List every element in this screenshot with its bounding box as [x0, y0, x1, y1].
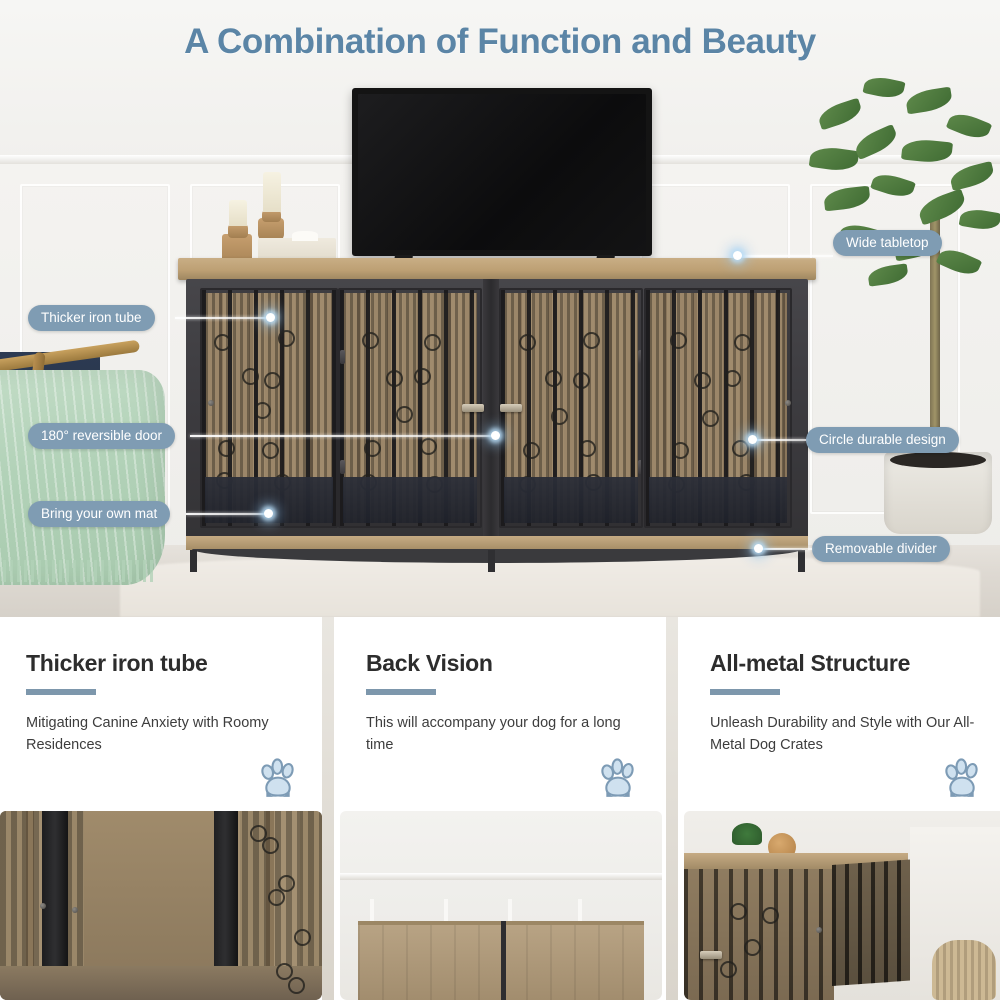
crate-door-4[interactable] [644, 288, 792, 528]
card-photo-angled-view [684, 811, 1000, 1000]
callout-bring-your-own-mat[interactable]: Bring your own mat [28, 501, 170, 527]
heading-underline [26, 689, 96, 695]
pot-soil [890, 452, 986, 468]
card-heading: Back Vision [366, 650, 644, 677]
cabinet-leg [190, 550, 197, 572]
card-photo-crate-interior [0, 811, 322, 1000]
hotspot-dot[interactable] [754, 544, 763, 553]
hotspot-dot[interactable] [266, 313, 275, 322]
paw-print-icon [596, 757, 640, 801]
feature-card-back-vision[interactable]: Back Vision This will accompany your dog… [340, 617, 662, 1000]
callout-wide-tabletop[interactable]: Wide tabletop [833, 230, 942, 256]
leader-line [737, 255, 833, 257]
card-photo-back-panel [340, 811, 662, 1000]
crate-door-2[interactable] [338, 288, 482, 528]
throw-fringe [0, 560, 155, 582]
crate-mat [504, 477, 638, 523]
cabinet-leg [798, 550, 805, 572]
crate-mat [649, 477, 787, 523]
heading-underline [366, 689, 436, 695]
cabinet-leg [488, 550, 495, 572]
television [352, 88, 652, 256]
hotspot-dot[interactable] [264, 509, 273, 518]
feature-card-thicker-iron-tube[interactable]: Thicker iron tube Mitigating Canine Anxi… [0, 617, 322, 1000]
callout-circle-durable-design[interactable]: Circle durable design [806, 427, 959, 453]
feature-cards-strip: Thicker iron tube Mitigating Canine Anxi… [0, 617, 1000, 1000]
card-body: Mitigating Canine Anxiety with Roomy Res… [26, 712, 304, 757]
callout-reversible-door[interactable]: 180° reversible door [28, 423, 175, 449]
leader-line [190, 435, 495, 437]
paw-print-icon [940, 757, 984, 801]
feature-card-all-metal-structure[interactable]: All-metal Structure Unleash Durability a… [684, 617, 1000, 1000]
pillar-candle-tall [263, 172, 281, 212]
door-latch-right[interactable] [500, 404, 522, 412]
pillar-candle-short [229, 200, 247, 226]
frame-screw [208, 400, 214, 406]
removable-divider-post[interactable] [483, 279, 499, 539]
tissue-sheet [292, 231, 318, 241]
leader-line [754, 439, 806, 441]
paw-print-icon [256, 757, 300, 801]
callout-thicker-iron-tube[interactable]: Thicker iron tube [28, 305, 155, 331]
hotspot-dot[interactable] [491, 431, 500, 440]
leader-line [175, 317, 270, 319]
heading-underline [710, 689, 780, 695]
page-title: A Combination of Function and Beauty [0, 22, 1000, 62]
knit-throw [0, 370, 165, 585]
ficus-tree-canopy [810, 70, 1000, 300]
tv-screen [358, 94, 646, 250]
base-trim [186, 536, 808, 550]
leader-line [186, 513, 268, 515]
crate-door-1[interactable] [200, 288, 338, 528]
dog-crate-console [178, 258, 816, 568]
wide-tabletop-surface [178, 258, 816, 280]
leader-line [760, 548, 812, 550]
base-skirt [192, 549, 802, 563]
card-heading: Thicker iron tube [26, 650, 304, 677]
hero-banner: A Combination of Function and Beauty [0, 0, 1000, 617]
hotspot-dot[interactable] [733, 251, 742, 260]
candle-holder-short-cup [228, 224, 248, 238]
background-sliver [666, 617, 678, 1000]
card-body: This will accompany your dog for a long … [366, 712, 644, 757]
door-latch-left[interactable] [462, 404, 484, 412]
card-body: Unleash Durability and Style with Our Al… [710, 712, 988, 757]
frame-screw [785, 400, 791, 406]
background-sliver [322, 617, 334, 1000]
hotspot-dot[interactable] [748, 435, 757, 444]
card-heading: All-metal Structure [710, 650, 988, 677]
crate-mat [343, 477, 477, 523]
callout-removable-divider[interactable]: Removable divider [812, 536, 950, 562]
